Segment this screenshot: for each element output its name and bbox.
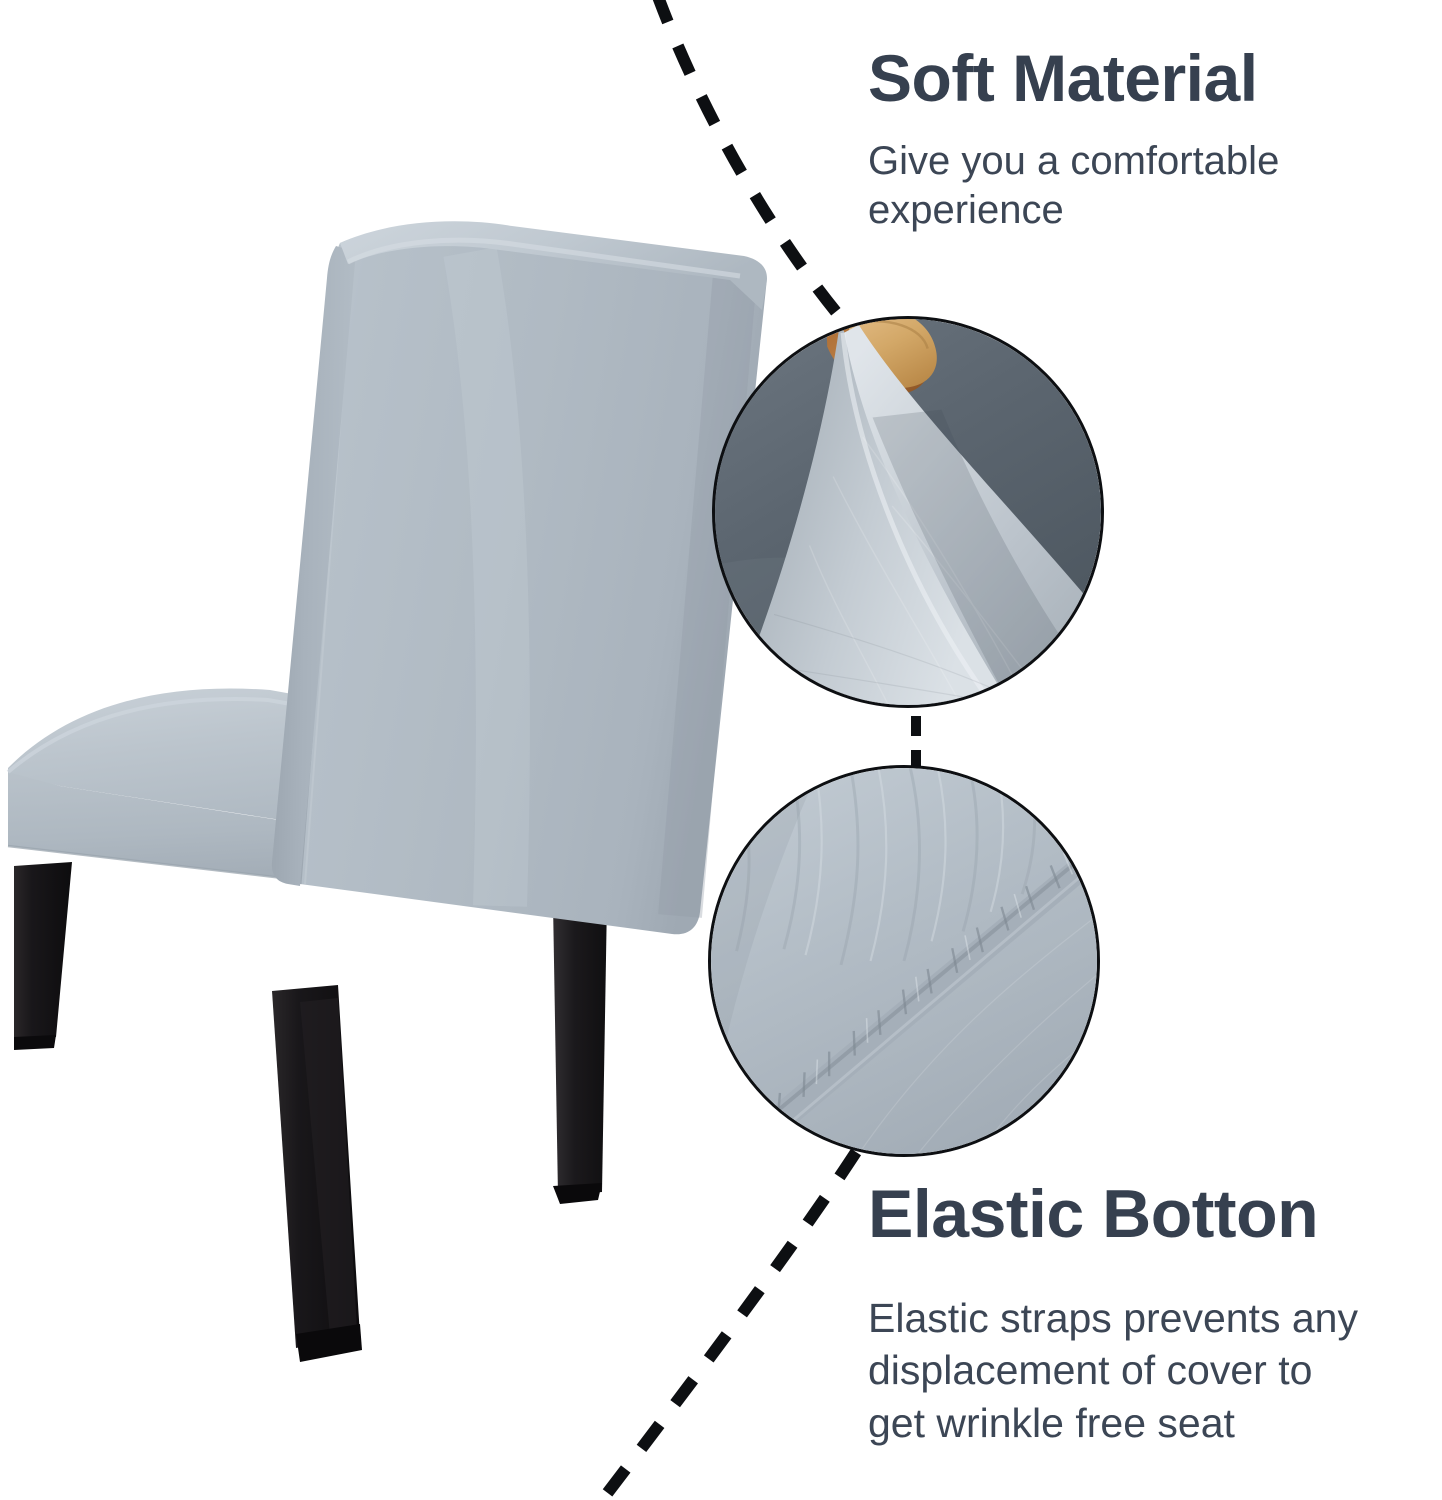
feature-heading-soft-material: Soft Material — [868, 45, 1413, 111]
feature-body-elastic-botton: Elastic straps prevents any displacement… — [868, 1292, 1428, 1449]
dashed-divider-curve-upper — [657, 0, 841, 318]
feature-heading-elastic-botton: Elastic Botton — [868, 1180, 1428, 1248]
feature-body-line: displacement of cover to — [868, 1344, 1428, 1396]
feature-block-elastic-botton: Elastic Botton Elastic straps prevents a… — [868, 1180, 1428, 1449]
fingers-pinching-fabric-photo — [715, 319, 1101, 705]
feature-body-soft-material: Give you a comfortable experience — [868, 137, 1413, 235]
feature-body-line: Elastic straps prevents any — [868, 1292, 1428, 1344]
feature-body-line: get wrinkle free seat — [868, 1397, 1428, 1449]
infographic-canvas: Soft Material Give you a comfortable exp… — [0, 0, 1442, 1500]
dashed-divider-curve-lower — [596, 1152, 856, 1500]
callout-circle-soft-material — [712, 316, 1104, 708]
feature-block-soft-material: Soft Material Give you a comfortable exp… — [868, 45, 1413, 235]
feature-body-line: experience — [868, 186, 1413, 235]
callout-circle-elastic-botton — [708, 765, 1100, 1157]
elastic-gathered-hem-photo — [711, 768, 1097, 1154]
feature-body-line: Give you a comfortable — [868, 137, 1413, 186]
